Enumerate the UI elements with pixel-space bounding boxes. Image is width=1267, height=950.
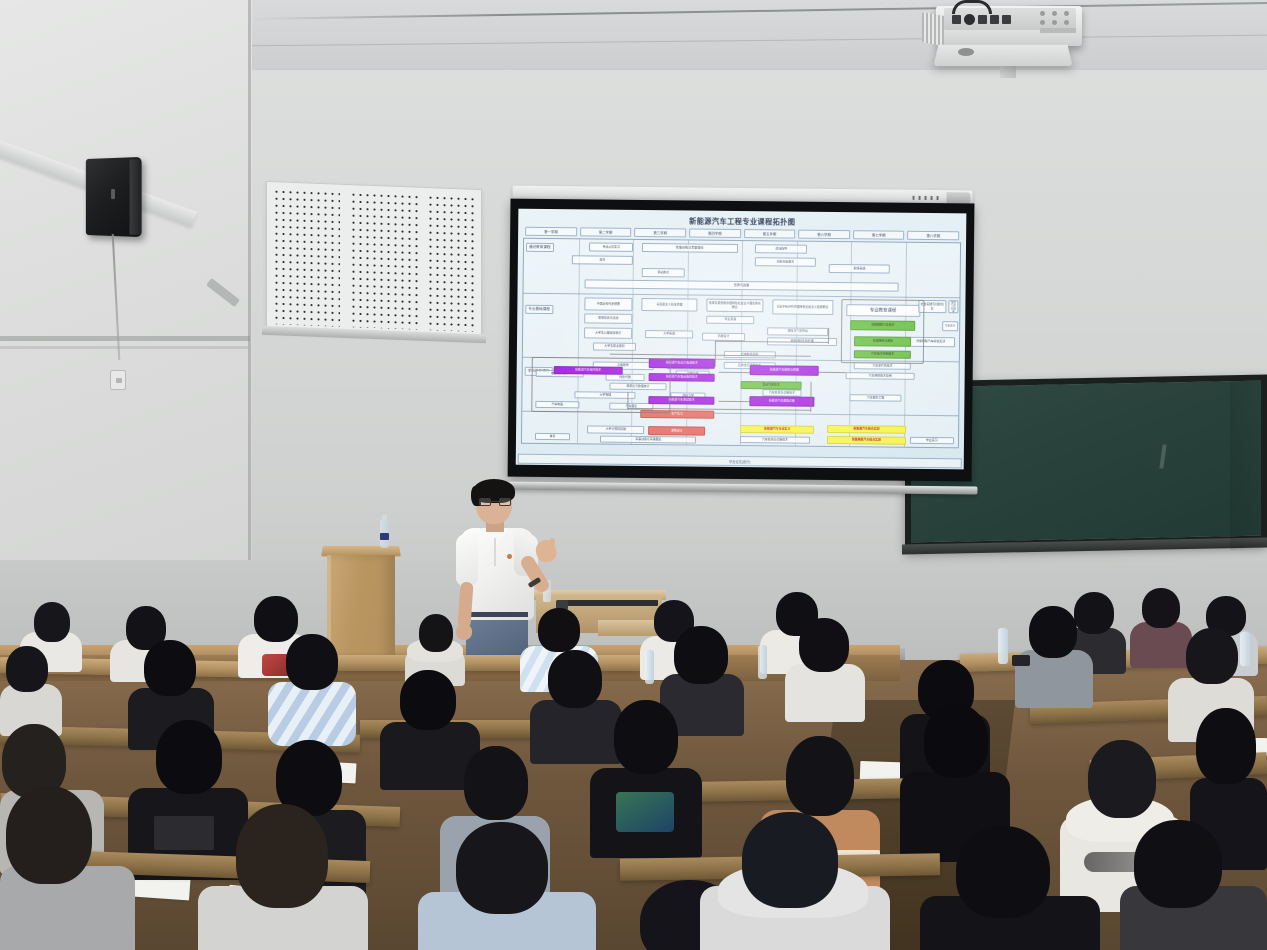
student-head [538,608,580,652]
course-node: 汽车检测与诊断技术 [762,389,801,396]
wall-band-secondary [0,346,250,349]
course-node: 思想道德与法治 [584,313,632,324]
course-node: 体育 [572,255,633,265]
projector-lens [958,48,974,56]
student-head [1134,820,1222,908]
wall-band [0,336,250,341]
semester-cell: 第五学期 [744,229,796,239]
screen-roller-branding [913,196,943,200]
student-head [786,736,854,816]
course-node: 马克思主义基本原理 [641,298,698,312]
projector-ports [952,13,1038,26]
student [0,786,135,950]
acoustic-seam-2 [421,188,429,336]
course-node-yellow: 智能网联汽车综合实训 [827,436,906,445]
course-node: 大学英语 [645,330,693,339]
student-torso [268,682,356,746]
course-node: 科技制作与学科竞赛 [948,300,958,313]
row-label-general: 通识教育课程 [526,243,554,252]
water-bottle [645,650,654,684]
student-head [464,746,528,820]
course-node: 毕业实习 [942,321,959,331]
projector-cable [952,0,992,14]
student-head [924,704,988,778]
semester-cell: 第四学期 [689,228,741,238]
student-head [400,670,456,730]
semester-cell: 第一学期 [525,227,577,237]
course-node: 液压与气压传动 [767,327,828,336]
student-head [1029,606,1077,658]
student-head [614,700,678,774]
chalk-mark-3 [1159,444,1166,468]
semester-cell: 第七学期 [853,230,905,240]
course-node: 汽车服务工程 [849,394,901,402]
course-node: 大学计算机基础 [587,425,644,434]
topology-grid: 通识教育课程 专业基础课程 学科教育课程 专业认识实习 军事训练与军事理论 就业… [521,238,961,449]
speaker-grille [130,159,142,235]
course-node: 专业认识实习 [589,242,633,251]
course-node: 劳动教育 [641,268,685,277]
student-head [236,804,328,908]
student-head [1142,588,1180,628]
water-bottle [380,520,389,548]
course-node: 专业英语 [706,316,754,325]
course-node: 习近平新时代中国特色社会主义思想概论 [772,299,833,315]
water-bottle [1240,632,1250,666]
course-node-yellow: 新能源汽车专业实习 [740,425,814,434]
course-node-purple: 新能源汽车故障诊断 [749,396,814,407]
student [1015,606,1093,702]
slide-content: 新能源汽车工程专业课程拓扑图 第一学期 第二学期 第三学期 第四学期 第五学期 … [516,209,967,470]
student-head [1186,628,1238,684]
instructor-belt [466,612,528,617]
chalkboard-shadow [1230,380,1267,550]
student-head [34,602,70,642]
student [700,812,890,950]
student-head [1088,740,1156,818]
course-node: 大学生职业规划 [593,342,637,350]
screen-weight-bar [501,482,977,495]
course-node-purple: 新能源汽车结构与原理 [749,365,819,376]
student-head [1196,708,1256,784]
student-head [956,826,1050,918]
projector-underside [933,45,1072,66]
student-head [6,786,92,884]
acoustic-seam-1 [340,185,348,333]
student-head [286,634,338,690]
wall-speaker [86,157,142,237]
left-wall [0,0,252,640]
student [418,822,596,950]
course-node: 毕业实习 [910,437,954,444]
course-node: 中国近现代史纲要 [584,297,632,311]
student [198,804,368,950]
student [920,826,1100,950]
phone-device [1012,655,1030,666]
projector-vent [922,12,944,46]
student-head [6,646,48,692]
tee-graphic-print [616,792,674,832]
course-node: 创新创业教育 [755,257,816,267]
ceiling-projector [922,0,1084,52]
student [405,614,465,678]
student-head [674,626,728,684]
instructor-eyeglasses [479,498,511,506]
student [785,618,865,716]
instructor-shirt-logo [507,554,512,559]
course-node: 就业指导 [755,244,807,254]
student-head [456,822,548,914]
course-node: 机械设计 [702,333,746,341]
course-node: 职场英语 [829,264,890,274]
course-node-yellow: 新能源汽车综合实训 [827,425,906,434]
lecture-hall-photo: 新能源汽车工程专业课程拓扑图 第一学期 第二学期 第三学期 第四学期 第五学期 … [0,0,1267,950]
row-label-basic: 专业基础课程 [525,305,553,314]
student [1120,820,1267,950]
course-node: 汽车网络技术应用 [845,372,915,380]
course-node: 毛泽东思想和中国特色社会主义理论体系概论 [706,299,763,313]
course-node: 军事训练与军事理论 [600,436,696,444]
instructor-placket [494,538,496,566]
water-bottle [758,645,767,679]
projection-screen: 新能源汽车工程专业课程拓扑图 第一学期 第二学期 第三学期 第四学期 第五学期 … [503,186,972,501]
semester-cell: 第三学期 [634,228,686,238]
student-torso [785,664,865,722]
student-head [799,618,849,672]
projector-buttons [1040,11,1074,27]
speaker-driver [111,189,115,199]
student-head [419,614,453,652]
student-head [742,812,838,908]
semester-cell: 第二学期 [580,227,632,237]
semester-cell: 第六学期 [798,230,850,240]
acoustic-panel [266,181,482,339]
student-head [156,720,222,794]
student-head [144,640,196,696]
wall-corner [248,0,251,640]
student [268,634,356,742]
course-node: 大学生心理健康教育 [584,327,632,339]
water-bottle [998,628,1008,664]
wall-outlet [110,370,126,390]
semester-cell: 第八学期 [907,231,959,241]
course-node: 体育 [535,433,570,440]
instructor-left-sleeve [456,534,478,586]
acoustic-perforations [273,188,475,332]
course-node-red: 课程设计 [648,426,705,436]
projector-label [1040,28,1076,33]
course-node: 汽车检测与诊断技术 [740,436,810,444]
course-node: 军事训练与军事理论 [642,243,738,253]
student [590,700,702,850]
screen-surface: 新能源汽车工程专业课程拓扑图 第一学期 第二学期 第三学期 第四学期 第五学期 … [516,209,967,470]
student [0,646,62,726]
